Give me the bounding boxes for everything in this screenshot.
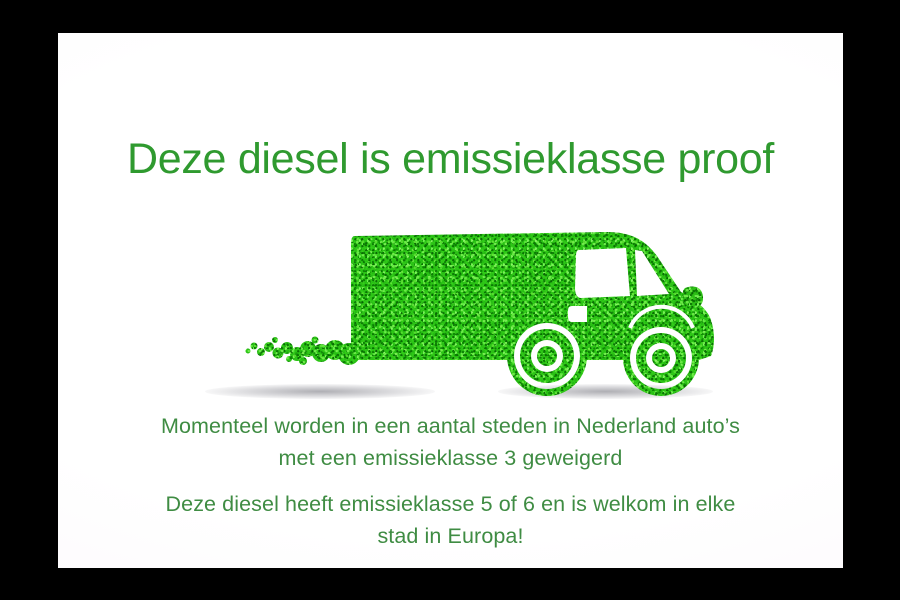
paragraph-compliance-line-2: stad in Europa! [58, 520, 843, 552]
van-illustration [183, 188, 723, 403]
banner-canvas: Deze diesel is emissieklasse proof [58, 33, 843, 568]
paragraph-restrictions-line-1: Momenteel worden in een aantal steden in… [58, 410, 843, 442]
paragraph-restrictions: Momenteel worden in een aantal steden in… [58, 410, 843, 474]
page-title: Deze diesel is emissieklasse proof [58, 138, 843, 181]
paragraph-compliance-line-1: Deze diesel heeft emissieklasse 5 of 6 e… [58, 488, 843, 520]
paragraph-restrictions-line-2: met een emissieklasse 3 geweigerd [58, 442, 843, 474]
paragraph-compliance: Deze diesel heeft emissieklasse 5 of 6 e… [58, 488, 843, 552]
van-shape-svg [183, 188, 723, 403]
van-silhouette [183, 188, 723, 403]
banner-frame: Deze diesel is emissieklasse proof [0, 0, 900, 600]
side-mirror-icon [681, 284, 707, 312]
